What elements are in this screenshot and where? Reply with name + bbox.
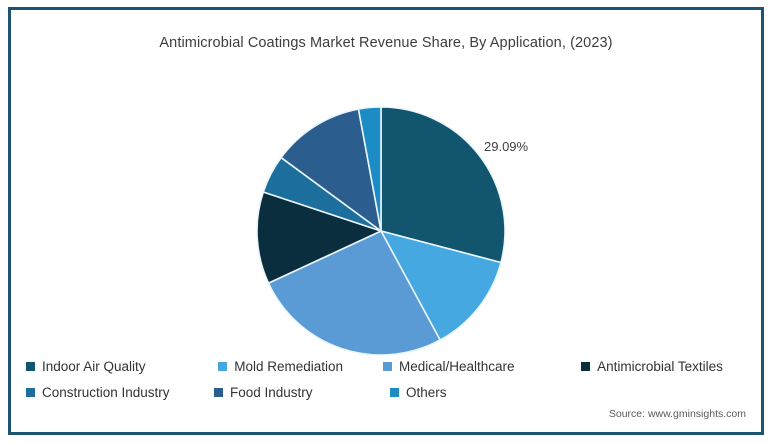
legend-row-2: Construction Industry Food Industry Othe… (26, 379, 738, 405)
chart-title: Antimicrobial Coatings Market Revenue Sh… (0, 35, 772, 51)
legend-label: Construction Industry (42, 385, 170, 400)
legend-label: Medical/Healthcare (399, 359, 515, 374)
legend-item-mold-remediation[interactable]: Mold Remediation (218, 359, 383, 374)
legend-swatch-icon (214, 388, 223, 397)
legend-item-food-industry[interactable]: Food Industry (214, 385, 390, 400)
legend-item-others[interactable]: Others (390, 385, 510, 400)
legend-swatch-icon (26, 388, 35, 397)
legend-swatch-icon (26, 362, 35, 371)
legend-item-medical-healthcare[interactable]: Medical/Healthcare (383, 359, 581, 374)
legend-swatch-icon (390, 388, 399, 397)
legend-label: Mold Remediation (234, 359, 343, 374)
source-attribution: Source: www.gminsights.com (609, 408, 746, 420)
legend-label: Indoor Air Quality (42, 359, 146, 374)
legend-label: Food Industry (230, 385, 313, 400)
chart-figure: Antimicrobial Coatings Market Revenue Sh… (0, 0, 772, 443)
legend-item-indoor-air-quality[interactable]: Indoor Air Quality (26, 359, 218, 374)
legend-swatch-icon (218, 362, 227, 371)
legend-row-1: Indoor Air Quality Mold Remediation Medi… (26, 353, 738, 379)
legend-swatch-icon (581, 362, 590, 371)
legend-label: Others (406, 385, 447, 400)
chart-legend: Indoor Air Quality Mold Remediation Medi… (26, 353, 738, 405)
legend-swatch-icon (383, 362, 392, 371)
legend-label: Antimicrobial Textiles (597, 359, 723, 374)
legend-item-construction-industry[interactable]: Construction Industry (26, 385, 214, 400)
legend-item-antimicrobial-textiles[interactable]: Antimicrobial Textiles (581, 359, 738, 374)
